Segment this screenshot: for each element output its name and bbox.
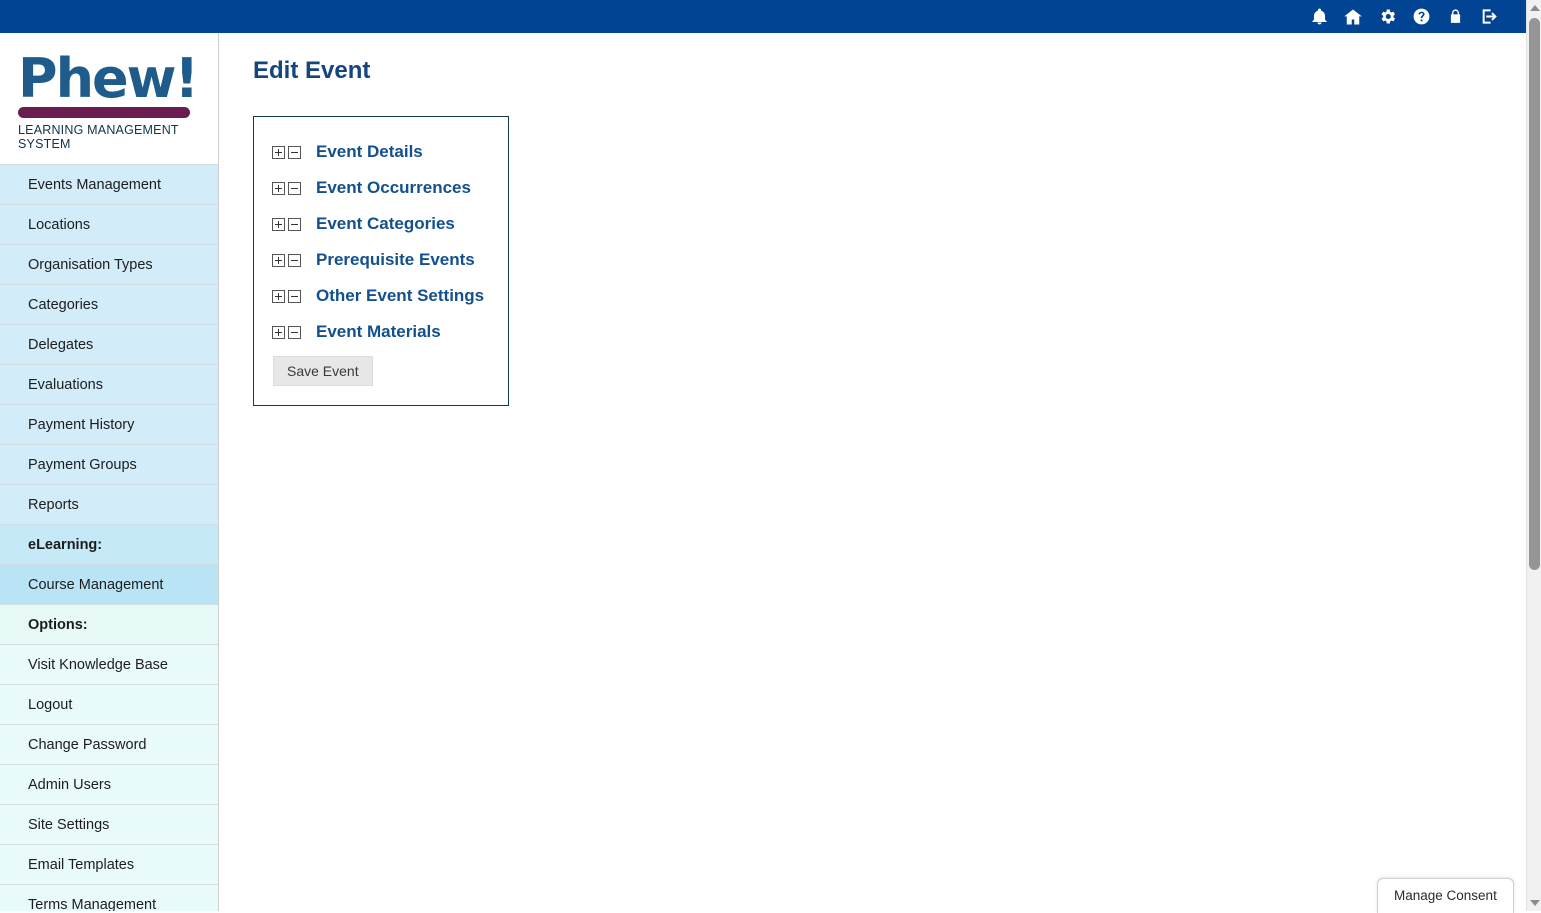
accordion-section-label: Other Event Settings [316, 286, 484, 306]
sidebar: Phew! LEARNING MANAGEMENT SYSTEM Events … [0, 33, 219, 911]
accordion-row[interactable]: Event Materials [254, 314, 508, 350]
sidebar-item-organisation-types[interactable]: Organisation Types [0, 244, 218, 284]
expand-plus-icon[interactable] [272, 290, 285, 303]
main-content: Edit Event Event DetailsEvent Occurrence… [220, 33, 1526, 911]
collapse-minus-icon[interactable] [288, 218, 301, 231]
logo[interactable]: Phew! LEARNING MANAGEMENT SYSTEM [0, 33, 218, 164]
expand-plus-icon[interactable] [272, 326, 285, 339]
accordion-row[interactable]: Event Categories [254, 206, 508, 242]
logo-subtitle: LEARNING MANAGEMENT SYSTEM [18, 123, 193, 151]
scroll-up-arrow-icon[interactable] [1527, 0, 1541, 16]
sidebar-item-evaluations[interactable]: Evaluations [0, 364, 218, 404]
gear-icon[interactable] [1370, 0, 1404, 33]
sidebar-item-email-templates[interactable]: Email Templates [0, 844, 218, 884]
sidebar-item-logout[interactable]: Logout [0, 684, 218, 724]
expand-plus-icon[interactable] [272, 254, 285, 267]
sidebar-item-admin-users[interactable]: Admin Users [0, 764, 218, 804]
accordion-row[interactable]: Other Event Settings [254, 278, 508, 314]
sidebar-item-categories[interactable]: Categories [0, 284, 218, 324]
save-event-button[interactable]: Save Event [273, 356, 373, 386]
collapse-minus-icon[interactable] [288, 146, 301, 159]
lock-icon[interactable] [1438, 0, 1472, 33]
accordion-row[interactable]: Event Occurrences [254, 170, 508, 206]
sidebar-item-events-management[interactable]: Events Management [0, 164, 218, 204]
accordion-section-label: Prerequisite Events [316, 250, 475, 270]
sidebar-item-locations[interactable]: Locations [0, 204, 218, 244]
sidebar-item-elearning: eLearning: [0, 524, 218, 564]
sign-out-icon[interactable] [1472, 0, 1506, 33]
accordion-row[interactable]: Event Details [254, 134, 508, 170]
sidebar-item-visit-knowledge-base[interactable]: Visit Knowledge Base [0, 644, 218, 684]
collapse-minus-icon[interactable] [288, 182, 301, 195]
collapse-minus-icon[interactable] [288, 254, 301, 267]
expand-plus-icon[interactable] [272, 182, 285, 195]
expand-plus-icon[interactable] [272, 218, 285, 231]
sidebar-item-payment-groups[interactable]: Payment Groups [0, 444, 218, 484]
accordion-section-label: Event Materials [316, 322, 441, 342]
sidebar-item-site-settings[interactable]: Site Settings [0, 804, 218, 844]
scroll-down-arrow-icon[interactable] [1527, 895, 1541, 911]
accordion-section-list: Event DetailsEvent OccurrencesEvent Cate… [254, 134, 508, 350]
sidebar-item-delegates[interactable]: Delegates [0, 324, 218, 364]
accordion-section-label: Event Occurrences [316, 178, 471, 198]
scrollbar-thumb[interactable] [1529, 18, 1540, 570]
accordion-row[interactable]: Prerequisite Events [254, 242, 508, 278]
notifications-icon[interactable] [1302, 0, 1336, 33]
sidebar-nav: Events ManagementLocationsOrganisation T… [0, 164, 218, 911]
sidebar-item-reports[interactable]: Reports [0, 484, 218, 524]
home-icon[interactable] [1336, 0, 1370, 33]
manage-consent-button[interactable]: Manage Consent [1377, 878, 1514, 913]
page-scrollbar[interactable] [1526, 0, 1541, 911]
page-title: Edit Event [253, 57, 1526, 85]
collapse-minus-icon[interactable] [288, 326, 301, 339]
accordion-section-label: Event Categories [316, 214, 455, 234]
expand-plus-icon[interactable] [272, 146, 285, 159]
sidebar-item-payment-history[interactable]: Payment History [0, 404, 218, 444]
sidebar-item-change-password[interactable]: Change Password [0, 724, 218, 764]
sidebar-item-terms-management[interactable]: Terms Management [0, 884, 218, 911]
sidebar-item-course-management[interactable]: Course Management [0, 564, 218, 604]
edit-event-panel: Event DetailsEvent OccurrencesEvent Cate… [253, 116, 509, 406]
accordion-section-label: Event Details [316, 142, 423, 162]
help-icon[interactable] [1404, 0, 1438, 33]
top-bar [0, 0, 1526, 33]
sidebar-item-options: Options: [0, 604, 218, 644]
logo-wordmark: Phew! [18, 53, 218, 105]
collapse-minus-icon[interactable] [288, 290, 301, 303]
